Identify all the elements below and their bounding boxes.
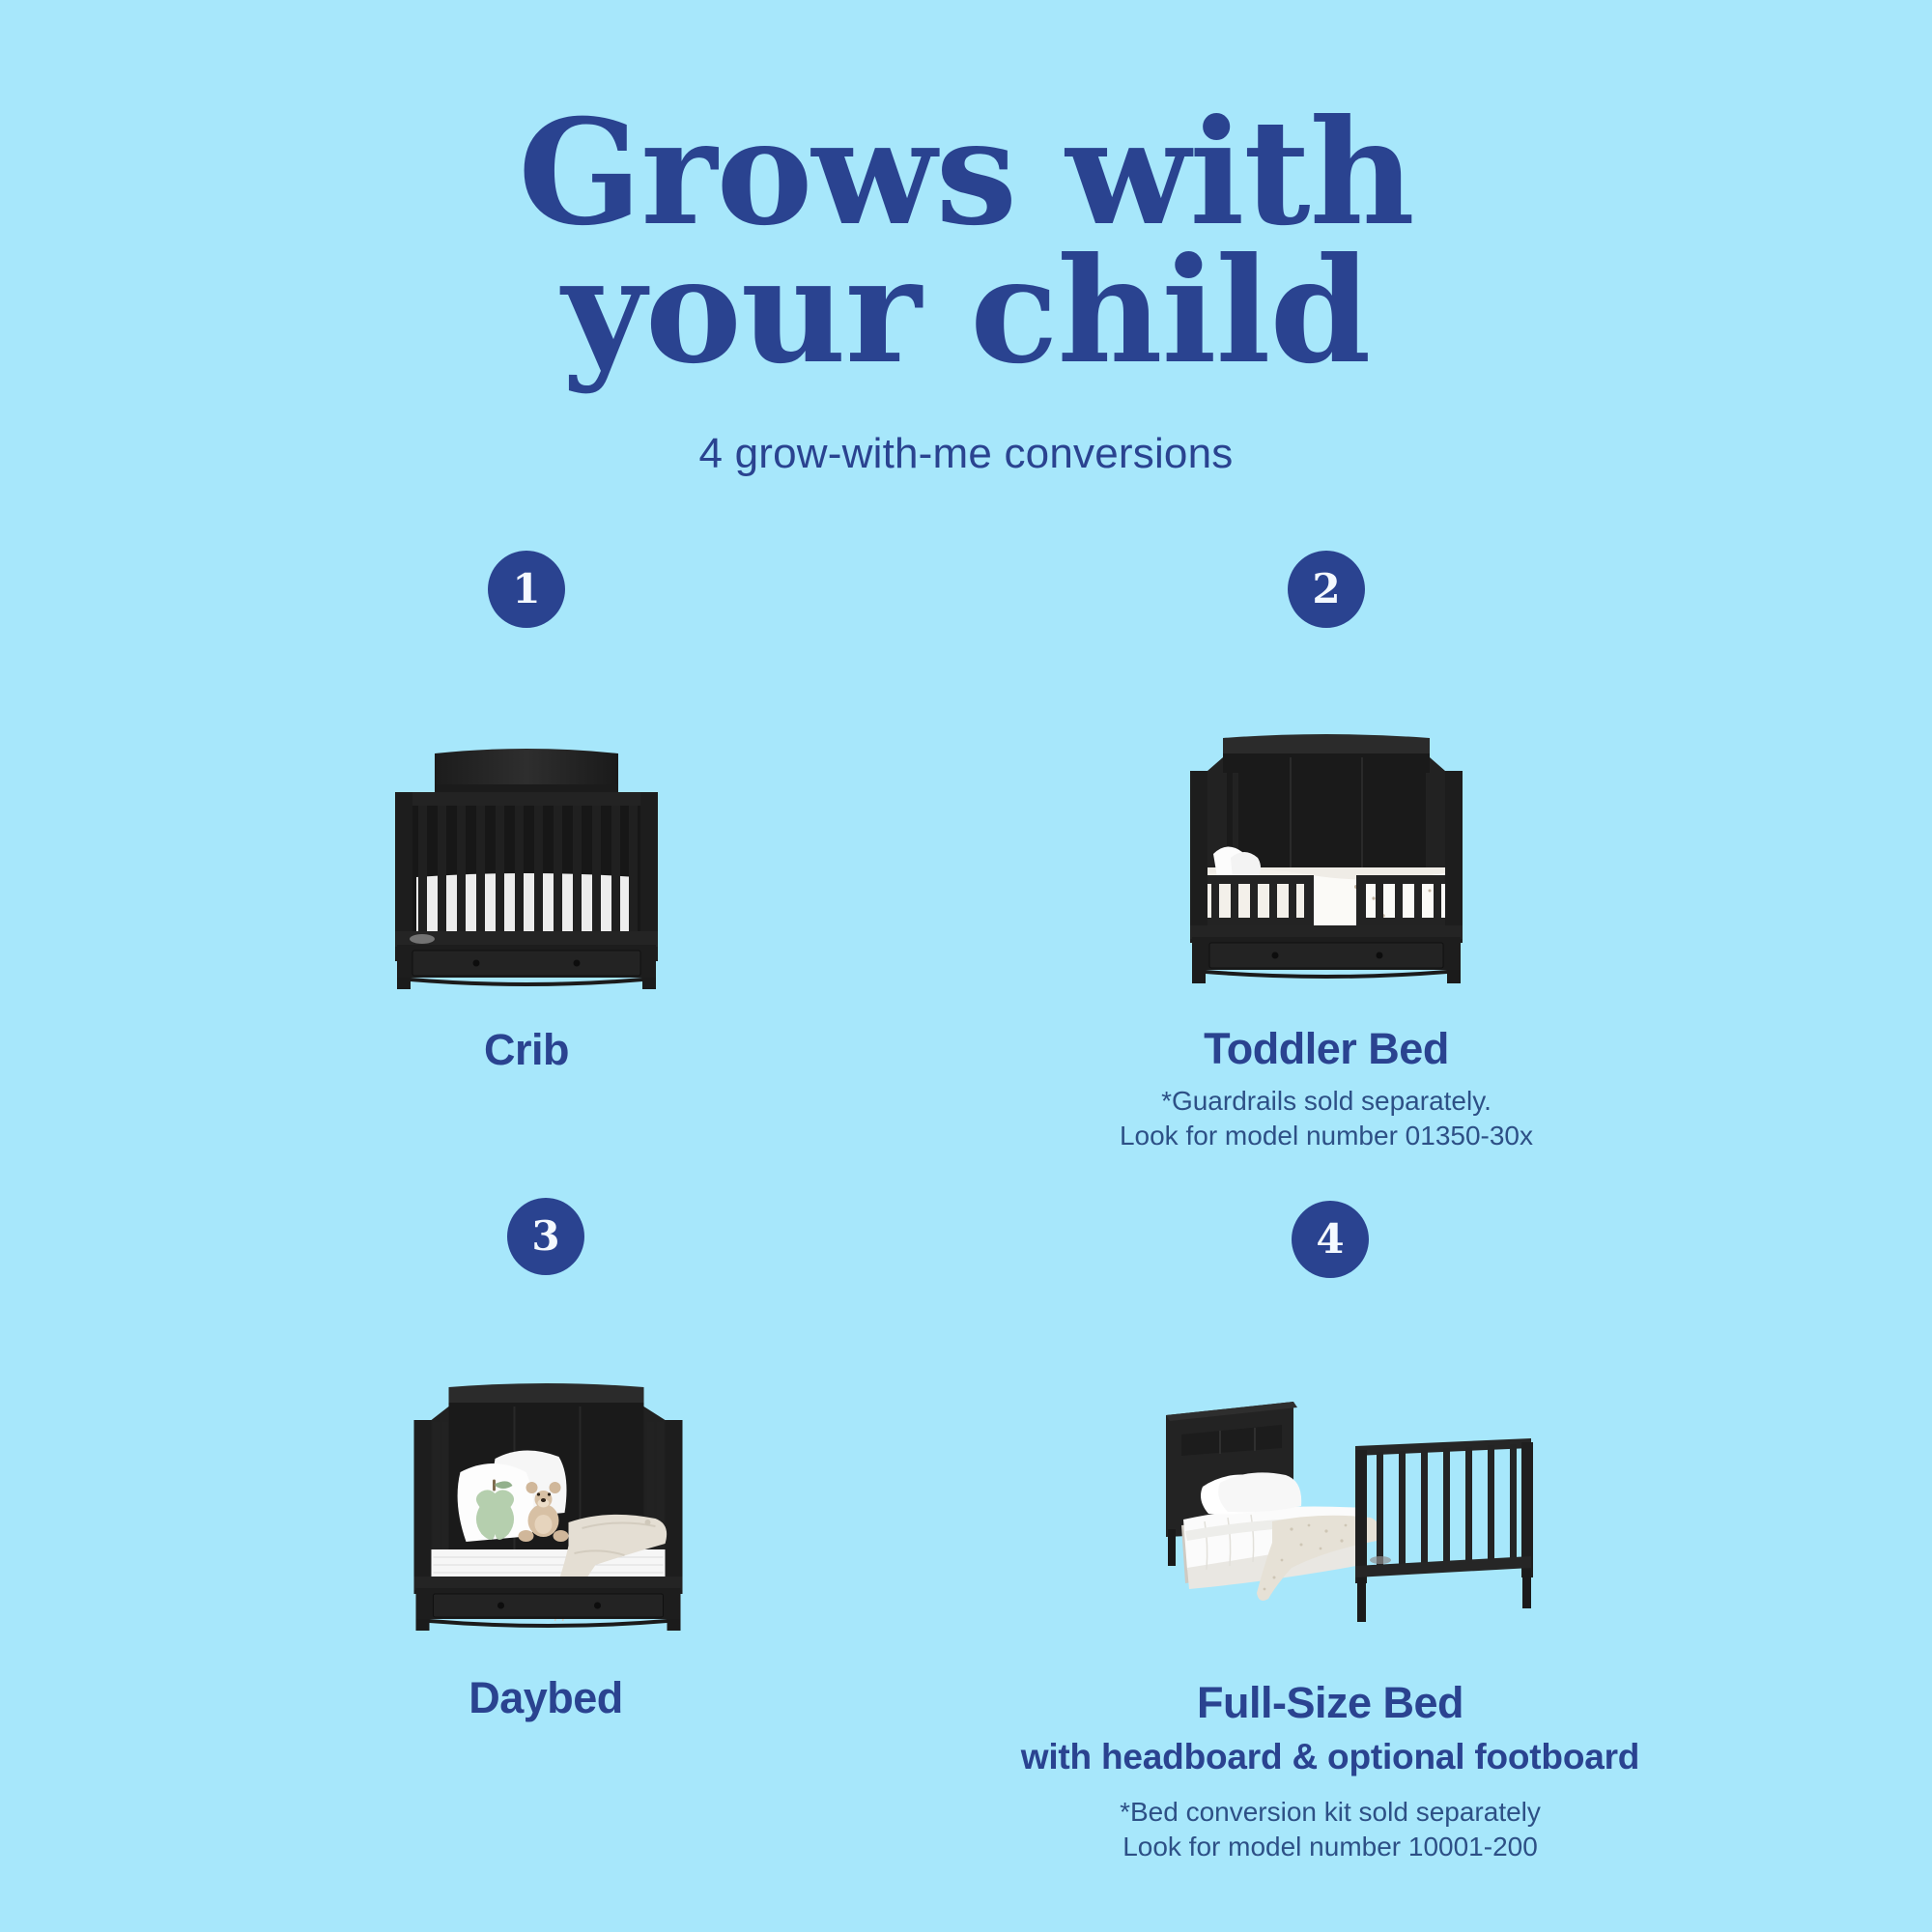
step-badge-4: 4: [1292, 1201, 1369, 1278]
conversion-label-full-size-bed: Full-Size Bed: [847, 1678, 1813, 1728]
page-title: Grows with your child: [362, 104, 1570, 380]
full-size-bed-illustration: [1127, 1394, 1533, 1635]
fineprint-line-2: Look for model number 01350-30x: [843, 1119, 1809, 1153]
header: Grows with your child 4 grow-with-me con…: [0, 104, 1932, 478]
fineprint-line-2: Look for model number 10001-200: [847, 1830, 1813, 1864]
infographic-page: Grows with your child 4 grow-with-me con…: [0, 0, 1932, 1932]
conversion-fineprint-toddler-bed: *Guardrails sold separately. Look for mo…: [843, 1084, 1809, 1153]
toddler-bed-illustration: [1167, 732, 1486, 993]
fineprint-line-1: *Guardrails sold separately.: [843, 1084, 1809, 1119]
title-line-2: your child: [362, 242, 1570, 381]
full-size-bed-illustration-wrap: [847, 1346, 1813, 1635]
fineprint-line-1: *Bed conversion kit sold separately: [847, 1795, 1813, 1830]
conversion-sublabel-full-size-bed: with headboard & optional footboard: [847, 1737, 1813, 1777]
conversion-fineprint-full-size-bed: *Bed conversion kit sold separately Look…: [847, 1795, 1813, 1864]
conversion-item-full-size-bed: 4: [847, 1201, 1813, 1864]
daybed-illustration: [389, 1383, 703, 1634]
title-line-1: Grows with: [362, 104, 1570, 242]
conversion-label-toddler-bed: Toddler Bed: [843, 1024, 1809, 1074]
toddler-bed-illustration-wrap: [843, 694, 1809, 993]
crib-illustration: [382, 742, 671, 993]
conversion-item-toddler-bed: 2: [843, 551, 1809, 1153]
conversions-grid: 1: [0, 551, 1932, 1932]
step-badge-3: 3: [507, 1198, 584, 1275]
step-badge-2: 2: [1288, 551, 1365, 628]
step-badge-1: 1: [488, 551, 565, 628]
page-subtitle: 4 grow-with-me conversions: [0, 430, 1932, 478]
